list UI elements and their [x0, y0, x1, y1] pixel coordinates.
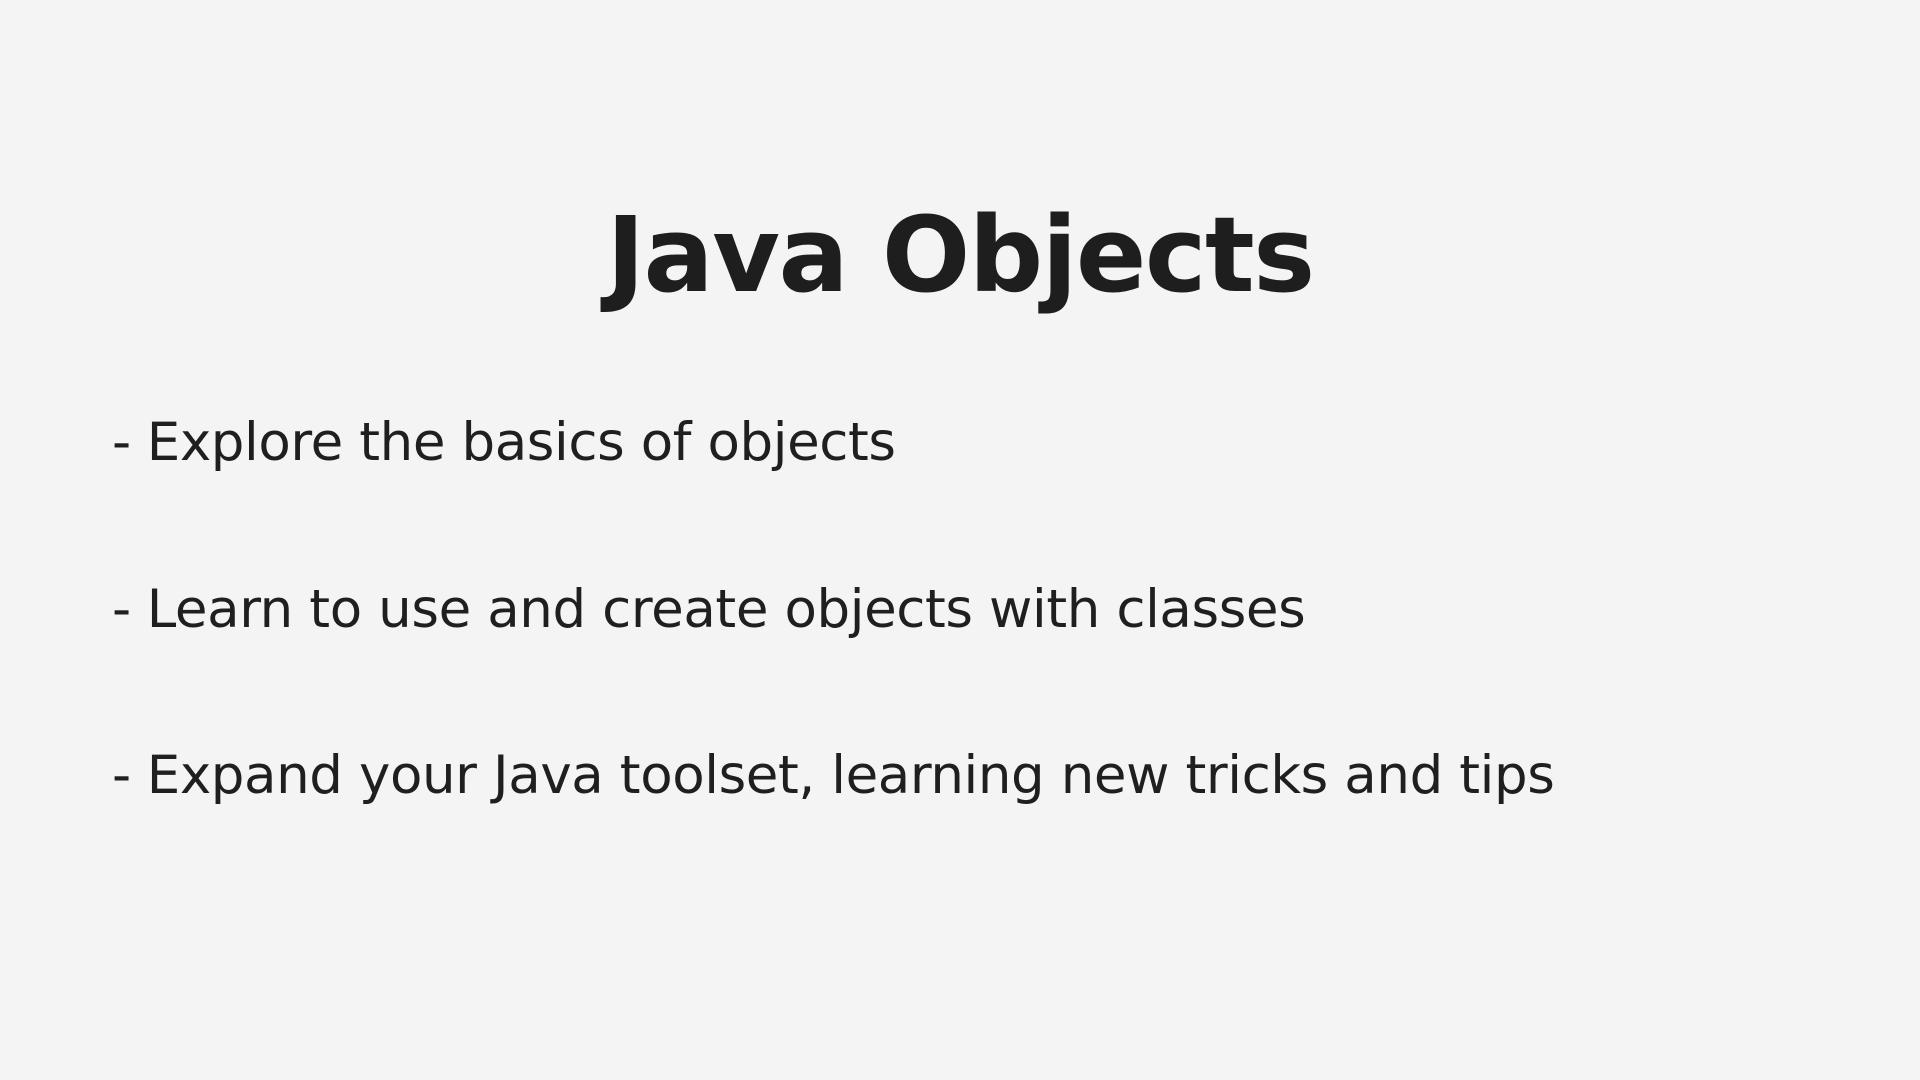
bullet-dash-marker: -: [112, 579, 131, 642]
bullet-item-3: -Expand your Java toolset, learning new …: [112, 745, 1872, 808]
bullet-dash-marker: -: [112, 412, 131, 475]
bullet-item-2: -Learn to use and create objects with cl…: [112, 579, 1872, 642]
bullet-text-2: Learn to use and create objects with cla…: [147, 579, 1306, 640]
bullet-text-3: Expand your Java toolset, learning new t…: [147, 745, 1555, 806]
slide-title: Java Objects: [0, 198, 1920, 312]
bullet-dash-marker: -: [112, 745, 131, 808]
bullet-list: -Explore the basics of objects -Learn to…: [112, 412, 1872, 808]
bullet-text-1: Explore the basics of objects: [147, 412, 896, 473]
bullet-item-1: -Explore the basics of objects: [112, 412, 1872, 475]
presentation-slide: Java Objects -Explore the basics of obje…: [0, 0, 1920, 1080]
